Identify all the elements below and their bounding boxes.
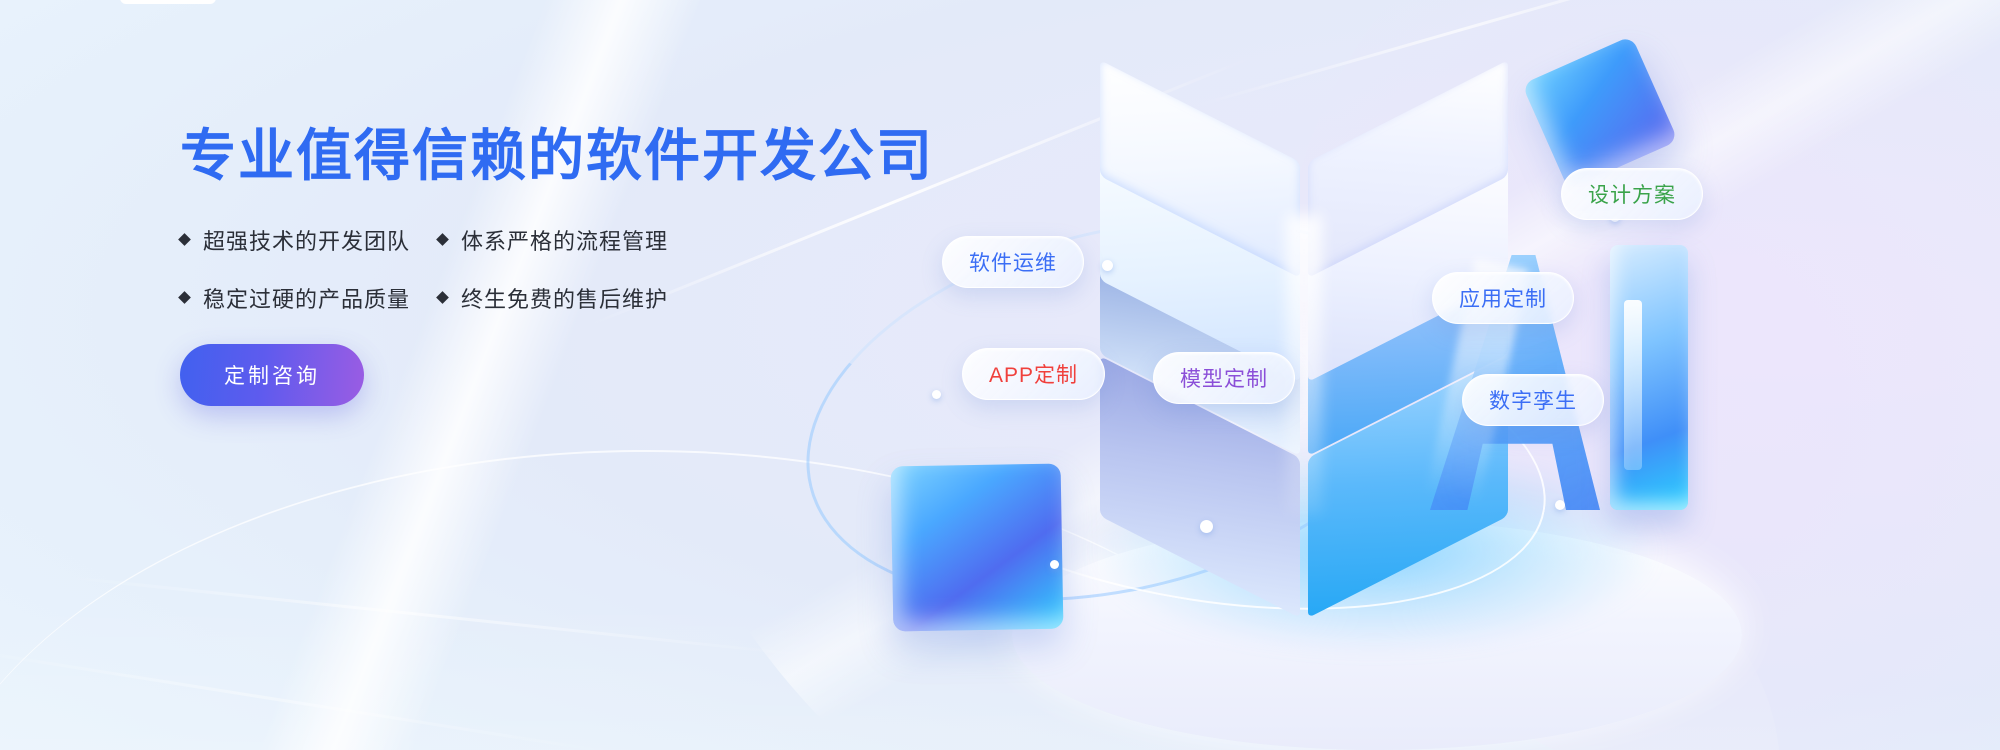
tag-label: 软件运维	[969, 247, 1057, 277]
feature-label: 稳定过硬的产品质量	[203, 282, 410, 314]
tag-label: 应用定制	[1459, 283, 1547, 313]
page-title: 专业值得信赖的软件开发公司	[180, 125, 940, 188]
light-streak	[62, 575, 818, 657]
orbit-dot	[1200, 520, 1213, 533]
orbit-dot	[1102, 260, 1113, 271]
feature-label: 体系严格的流程管理	[461, 224, 668, 256]
tag-label: 数字孪生	[1489, 385, 1577, 415]
letter-i-highlight	[1624, 300, 1642, 470]
tag-label: APP定制	[989, 359, 1078, 389]
tag-label: 设计方案	[1588, 179, 1676, 209]
custom-consult-button[interactable]: 定制咨询	[180, 344, 364, 406]
top-notch-decoration	[120, 0, 216, 4]
hero-copy: 专业值得信赖的软件开发公司 超强技术的开发团队 体系严格的流程管理 稳定过硬的产…	[180, 125, 940, 406]
diamond-bullet-icon	[178, 233, 191, 246]
feature-row: 稳定过硬的产品质量 终生免费的售后维护	[180, 282, 940, 314]
tag-chip-app-dev[interactable]: APP定制	[962, 348, 1105, 400]
diamond-bullet-icon	[178, 291, 191, 304]
hero-banner: 专业值得信赖的软件开发公司 超强技术的开发团队 体系严格的流程管理 稳定过硬的产…	[0, 0, 2000, 750]
feature-list: 超强技术的开发团队 体系严格的流程管理 稳定过硬的产品质量 终生免费的售后维护	[180, 224, 940, 314]
tag-label: 模型定制	[1180, 363, 1268, 393]
orbit-dot	[1050, 560, 1059, 569]
feature-item: 稳定过硬的产品质量	[180, 282, 438, 314]
tag-chip-design-plan[interactable]: 设计方案	[1561, 168, 1703, 220]
feature-item: 终生免费的售后维护	[438, 282, 696, 314]
tag-chip-app-custom[interactable]: 应用定制	[1432, 272, 1574, 324]
feature-label: 终生免费的售后维护	[461, 282, 668, 314]
tag-chip-software-ops[interactable]: 软件运维	[942, 236, 1084, 288]
feature-label: 超强技术的开发团队	[203, 224, 410, 256]
light-streak	[0, 645, 636, 750]
feature-item: 超强技术的开发团队	[180, 224, 438, 256]
small-cube-graphic	[891, 464, 1064, 632]
tag-chip-model-custom[interactable]: 模型定制	[1153, 352, 1295, 404]
orbit-dot	[1555, 500, 1565, 510]
feature-item: 体系严格的流程管理	[438, 224, 696, 256]
tag-chip-digital-twin[interactable]: 数字孪生	[1462, 374, 1604, 426]
feature-row: 超强技术的开发团队 体系严格的流程管理	[180, 224, 940, 256]
small-cube-graphic	[1522, 36, 1678, 190]
diamond-bullet-icon	[436, 291, 449, 304]
letter-i-graphic	[1610, 245, 1688, 510]
orbit-dot	[932, 390, 941, 399]
diamond-bullet-icon	[436, 233, 449, 246]
